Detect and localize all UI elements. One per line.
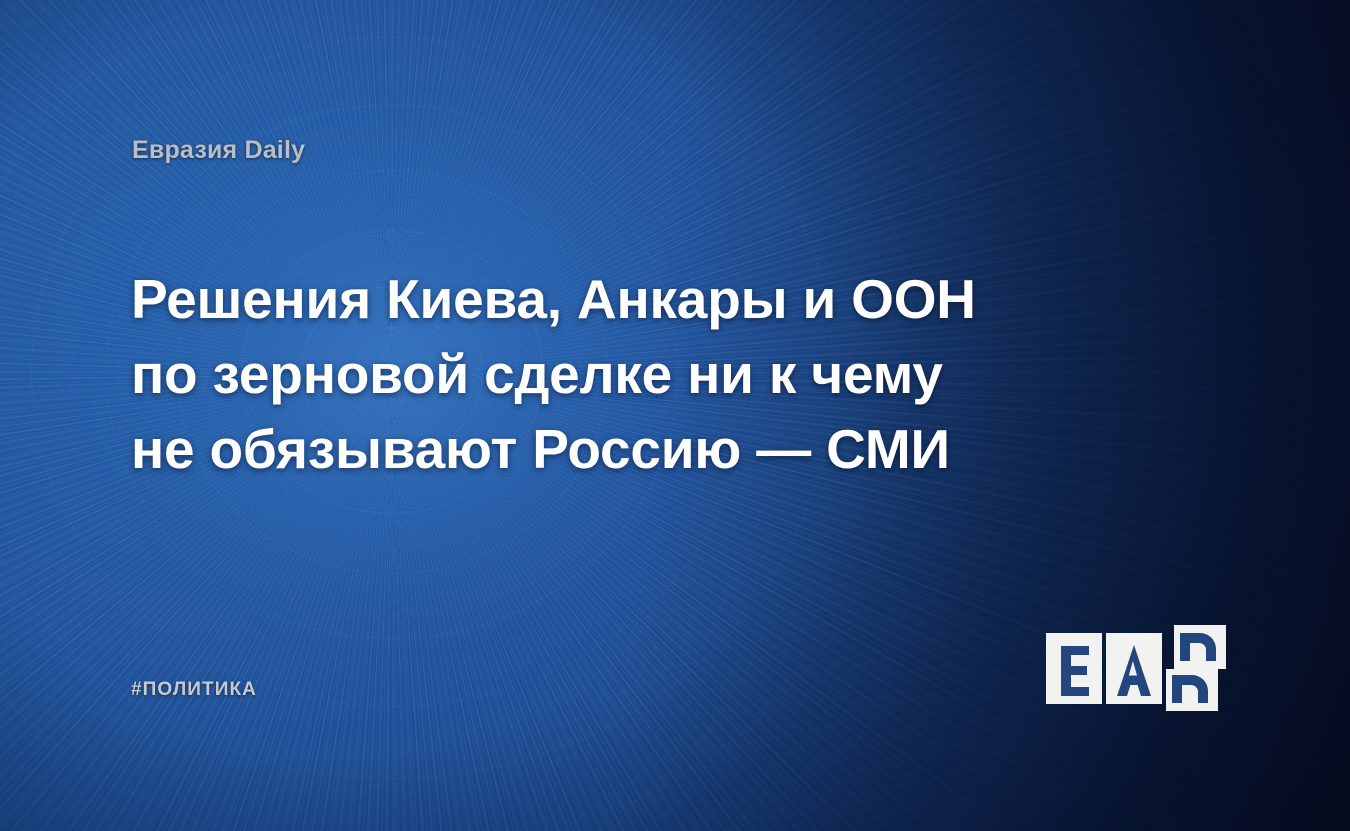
headline-line-3: не обязывают Россию — СМИ — [131, 412, 1011, 487]
headline-line-1: Решения Киева, Анкары и ООН — [131, 262, 1011, 337]
logo-tile-a — [1106, 633, 1162, 704]
page-title: Решения Киева, Анкары и ООН по зерновой … — [131, 262, 1011, 487]
headline-line-2: по зерновой сделке ни к чему — [131, 337, 1011, 412]
eadaily-logo[interactable] — [1046, 625, 1226, 711]
logo-letter-e — [1061, 646, 1089, 696]
brand-title: Евразия Daily — [132, 136, 305, 165]
category-hashtag[interactable]: #ПОЛИТИКА — [131, 679, 257, 701]
news-card: Евразия Daily Решения Киева, Анкары и ОО… — [0, 0, 1350, 831]
